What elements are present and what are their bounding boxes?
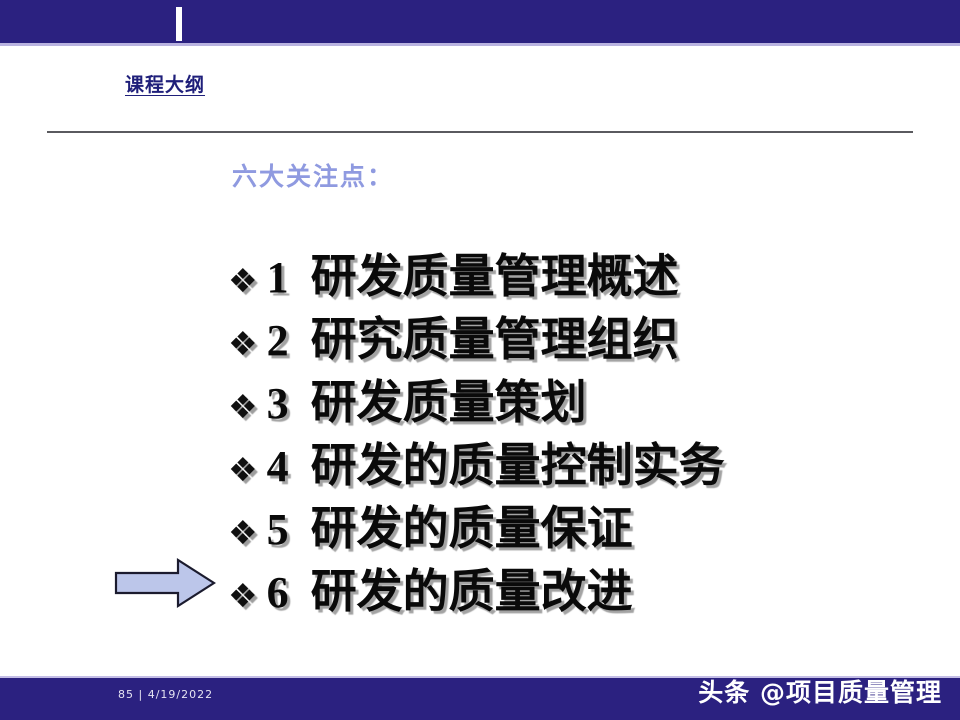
list-item-label: 研发的质量保证	[311, 492, 633, 558]
list-item[interactable]: ❖ 1 研发质量管理概述	[228, 240, 928, 303]
section-subtitle: 六大关注点：	[232, 157, 394, 193]
top-band-underline	[0, 43, 960, 46]
list-item[interactable]: ❖ 3 研发质量策划	[228, 366, 928, 429]
list-item[interactable]: ❖ 5 研发的质量保证	[228, 492, 928, 555]
title-divider	[47, 131, 913, 133]
diamond-bullet-icon: ❖	[228, 516, 258, 549]
diamond-bullet-icon: ❖	[228, 453, 258, 486]
slide-canvas: 课程大纲 六大关注点： ❖ 1 研发质量管理概述 ❖ 2 研究质量管理组织 ❖ …	[0, 0, 960, 720]
list-item-label: 研发的质量控制实务	[311, 429, 725, 495]
list-item-label: 研发质量管理概述	[311, 240, 679, 306]
diamond-bullet-icon: ❖	[228, 579, 258, 612]
text-caret-icon	[176, 7, 182, 41]
page-title: 课程大纲	[125, 70, 205, 97]
list-item-label: 研发的质量改进	[311, 555, 633, 621]
diamond-bullet-icon: ❖	[228, 327, 258, 360]
top-navy-band	[0, 0, 960, 43]
list-item[interactable]: ❖ 4 研发的质量控制实务	[228, 429, 928, 492]
list-item-label: 研究质量管理组织	[311, 303, 679, 369]
list-item[interactable]: ❖ 2 研究质量管理组织	[228, 303, 928, 366]
diamond-bullet-icon: ❖	[228, 390, 258, 423]
list-item-number: 5	[267, 504, 289, 555]
diamond-bullet-icon: ❖	[228, 264, 258, 297]
list-item-highlighted[interactable]: ❖ 6 研发的质量改进	[228, 555, 928, 618]
list-item-number: 2	[267, 315, 289, 366]
right-arrow-icon	[114, 557, 216, 609]
list-item-number: 3	[267, 378, 289, 429]
list-item-number: 1	[267, 252, 289, 303]
list-item-number: 6	[267, 567, 289, 618]
footer-page-and-date: 85 | 4/19/2022	[118, 688, 213, 701]
list-item-label: 研发质量策划	[311, 366, 587, 432]
outline-list: ❖ 1 研发质量管理概述 ❖ 2 研究质量管理组织 ❖ 3 研发质量策划 ❖ 4…	[228, 240, 928, 618]
list-item-number: 4	[267, 441, 289, 492]
watermark-label: 头条 @项目质量管理	[698, 673, 942, 709]
